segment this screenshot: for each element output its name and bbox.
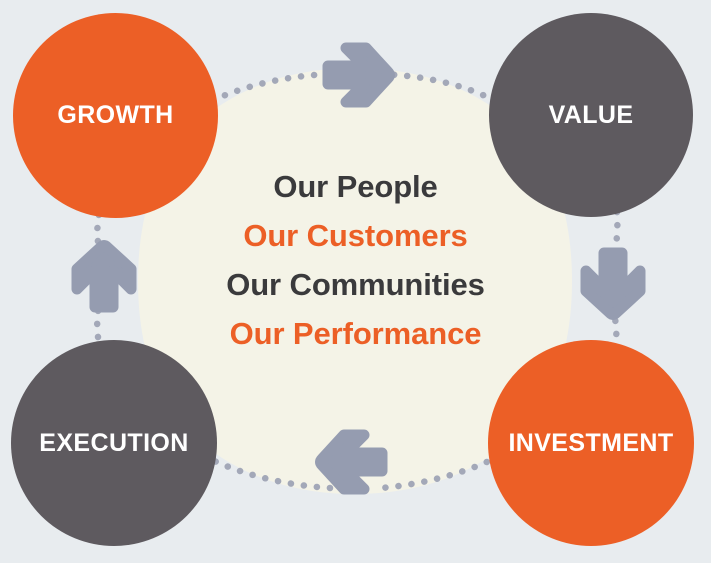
center-line-our-customers: Our Customers bbox=[0, 211, 711, 260]
strategy-cycle-diagram: Our People Our Customers Our Communities… bbox=[0, 0, 711, 563]
center-line-our-performance: Our Performance bbox=[0, 309, 711, 358]
center-line-our-people: Our People bbox=[0, 162, 711, 211]
node-execution: EXECUTION bbox=[11, 340, 217, 546]
node-execution-label: EXECUTION bbox=[39, 431, 188, 456]
node-value-label: VALUE bbox=[549, 103, 634, 128]
node-investment-label: INVESTMENT bbox=[508, 431, 673, 456]
center-line-our-communities: Our Communities bbox=[0, 260, 711, 309]
node-investment: INVESTMENT bbox=[488, 340, 694, 546]
center-value-statements: Our People Our Customers Our Communities… bbox=[0, 162, 711, 358]
node-growth-label: GROWTH bbox=[57, 103, 173, 128]
